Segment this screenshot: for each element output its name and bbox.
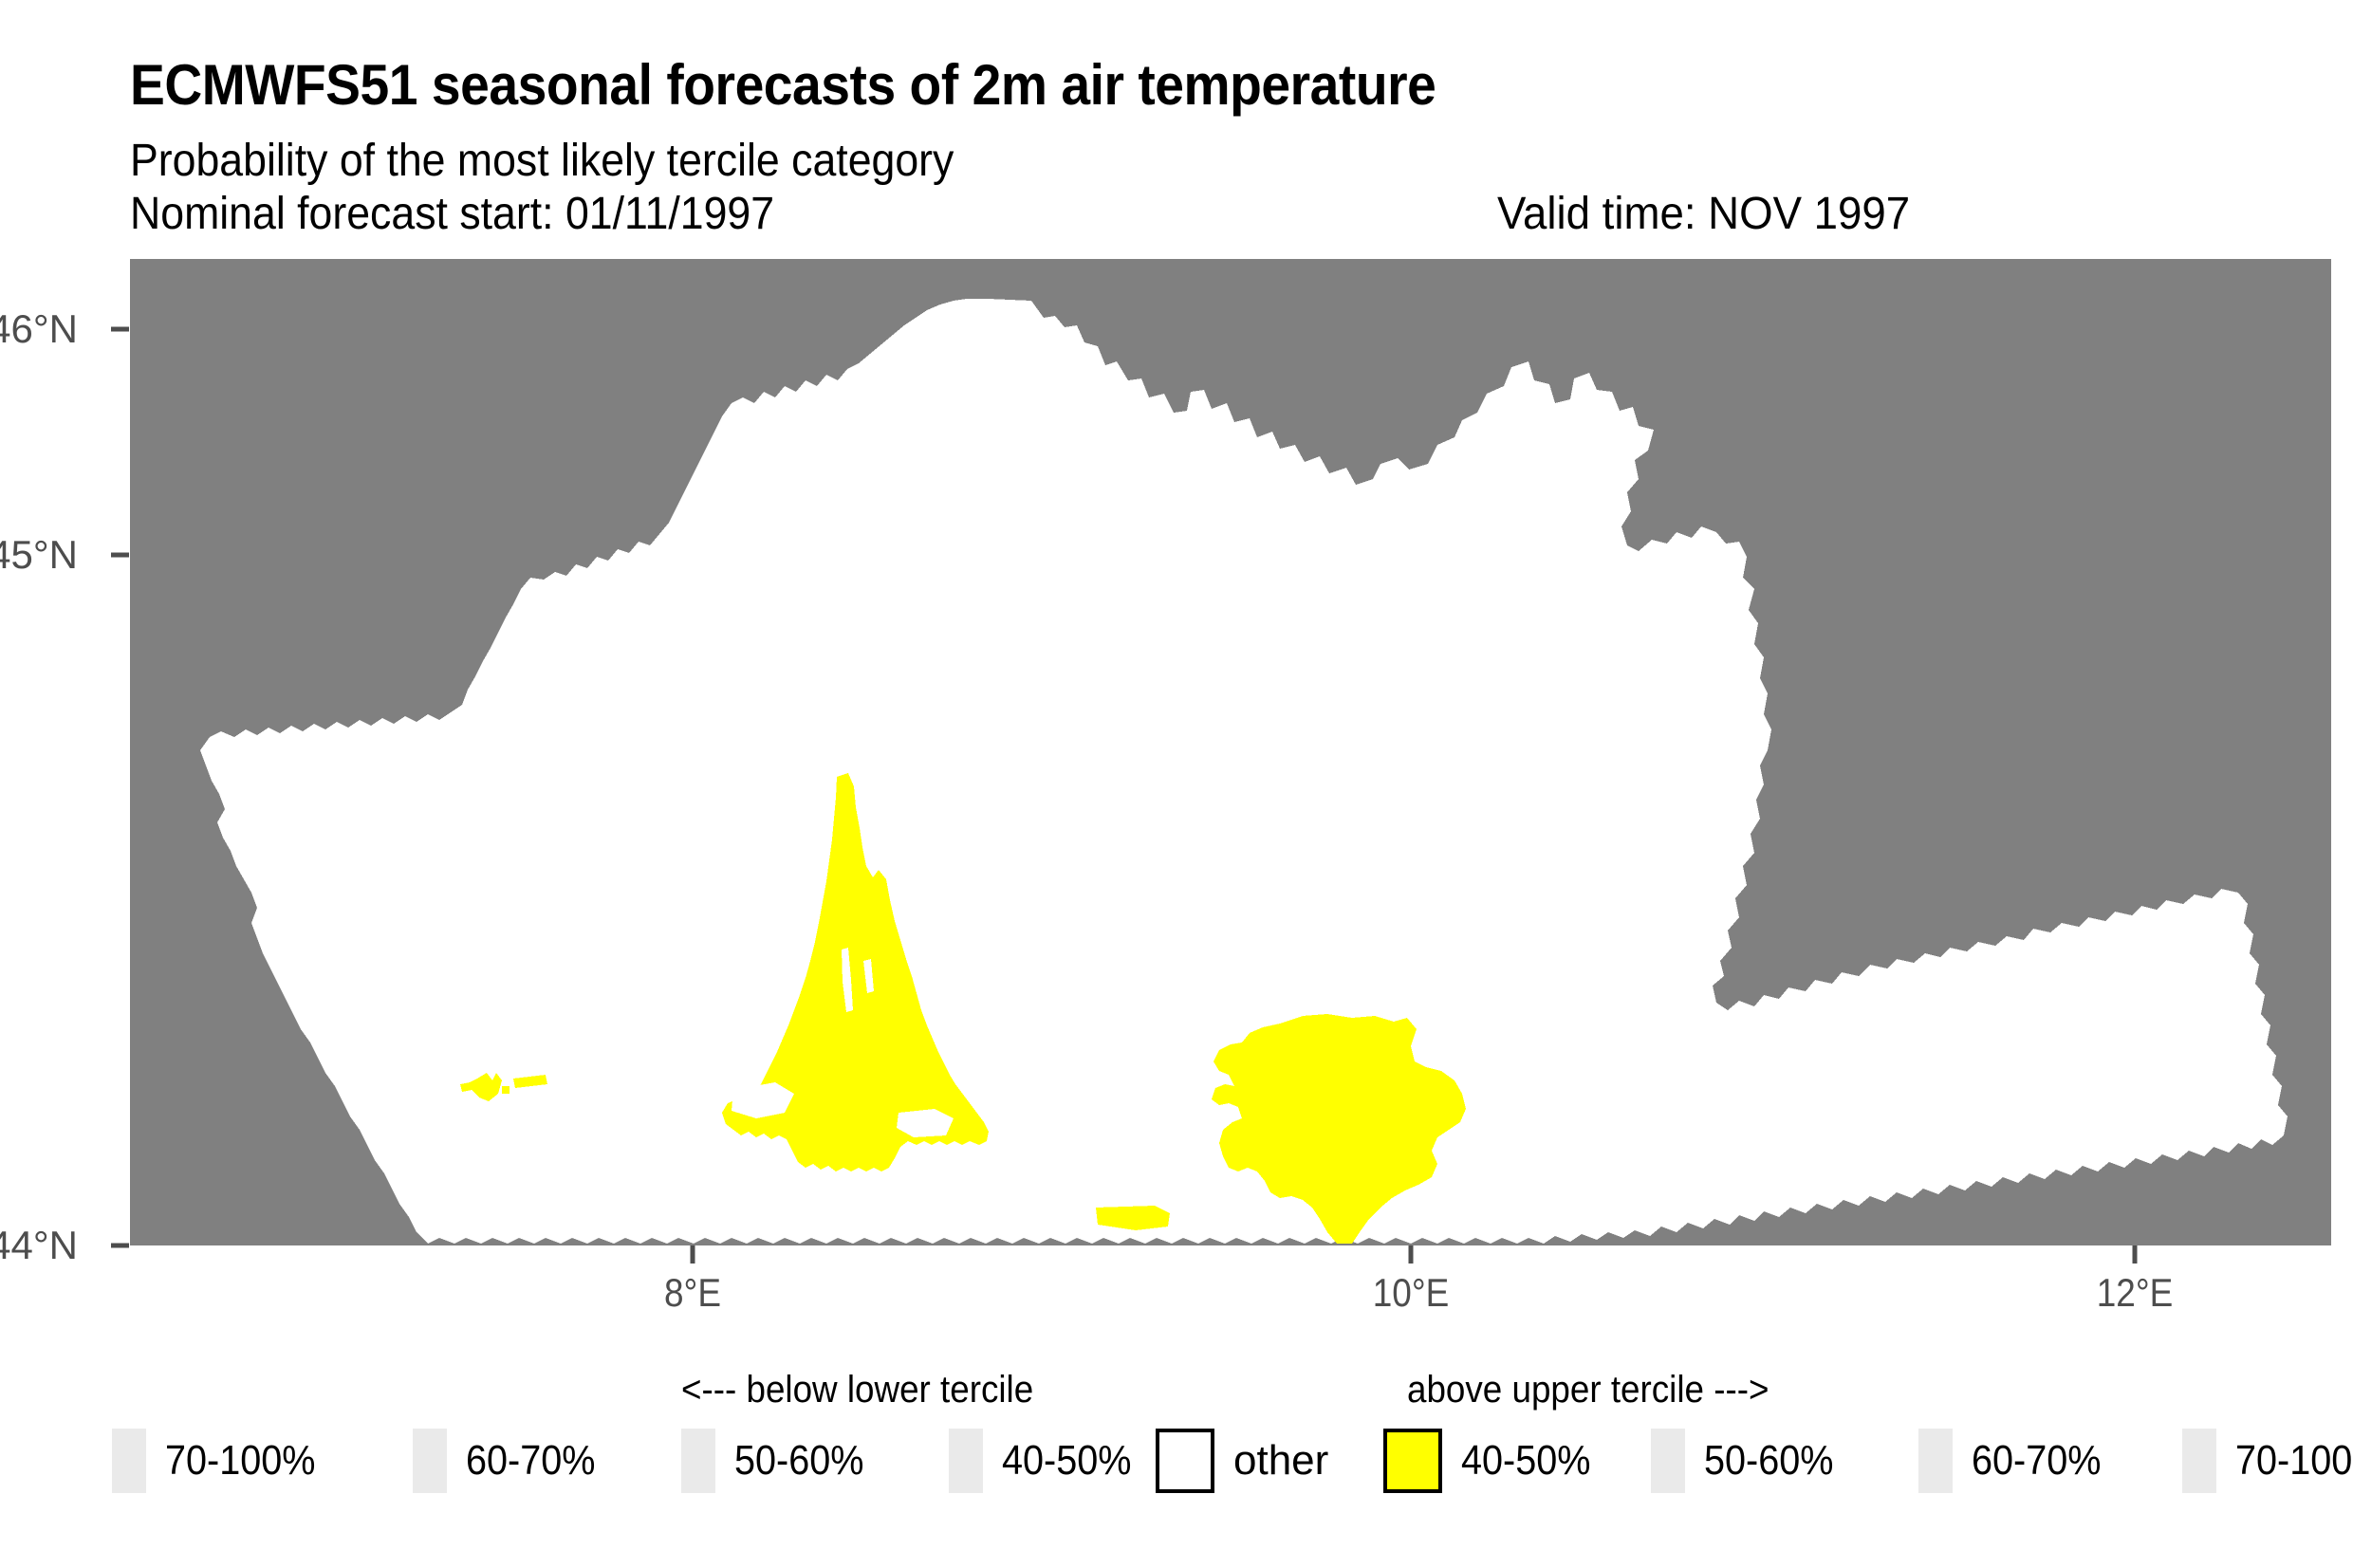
region-southwest-speck-3 [502,1086,510,1094]
legend-label-above-70-100: 70-100% [2235,1437,2353,1485]
xtick-mark-12e [2133,1245,2138,1264]
xtick-label-8e: 8°E [664,1270,721,1316]
xtick-mark-8e [691,1245,695,1264]
map-plot-area [130,259,2331,1245]
xtick-label-10e: 10°E [1373,1270,1450,1316]
legend-item-below-40-50[interactable]: 40-50% [949,1429,1146,1493]
legend-label-below-70-100: 70-100% [165,1437,316,1485]
legend-swatch-below-70-100 [112,1429,146,1493]
legend-item-below-60-70[interactable]: 60-70% [413,1429,610,1493]
legend-item-above-60-70[interactable]: 60-70% [1918,1429,2116,1493]
ytick-mark-45n [111,553,129,558]
xtick-label-12e: 12°E [2097,1270,2174,1316]
legend-label-above-50-60: 50-60% [1704,1437,1834,1485]
map-svg [130,259,2331,1245]
legend-swatch-above-50-60 [1651,1429,1685,1493]
legend-label-other: other [1233,1437,1328,1485]
legend-item-above-70-100[interactable]: 70-100% [2182,1429,2353,1493]
legend-swatch-above-70-100 [2182,1429,2216,1493]
legend-heading-above-upper-tercile: above upper tercile ---> [1407,1369,1769,1411]
legend-swatch-other [1156,1429,1214,1493]
forecast-start-label: Nominal forecast start: 01/11/1997 [130,188,774,240]
ytick-label-44n: 44°N [0,1223,78,1268]
ytick-label-46n: 46°N [0,306,78,352]
legend-swatch-below-50-60 [681,1429,715,1493]
xtick-mark-10e [1409,1245,1414,1264]
legend-item-above-40-50[interactable]: 40-50% [1383,1429,1605,1493]
valid-time-label: Valid time: NOV 1997 [1497,188,1910,240]
page-title: ECMWFS51 seasonal forecasts of 2m air te… [130,52,1436,118]
legend-swatch-above-40-50 [1383,1429,1442,1493]
legend-item-below-70-100[interactable]: 70-100% [112,1429,332,1493]
legend-item-other[interactable]: other [1156,1429,1328,1493]
ytick-mark-46n [111,327,129,332]
legend-heading-below-lower-tercile: <--- below lower tercile [681,1369,1033,1411]
legend-label-below-40-50: 40-50% [1002,1437,1132,1485]
subtitle: Probability of the most likely tercile c… [130,135,954,187]
legend-label-above-40-50: 40-50% [1461,1437,1591,1485]
ytick-label-45n: 45°N [0,532,78,578]
ytick-mark-44n [111,1244,129,1248]
legend-item-above-50-60[interactable]: 50-60% [1651,1429,1848,1493]
legend-swatch-below-40-50 [949,1429,983,1493]
legend-swatch-below-60-70 [413,1429,447,1493]
legend-label-below-60-70: 60-70% [466,1437,596,1485]
legend-label-above-60-70: 60-70% [1972,1437,2102,1485]
legend-swatch-above-60-70 [1918,1429,1953,1493]
legend-label-below-50-60: 50-60% [734,1437,864,1485]
legend-item-below-50-60[interactable]: 50-60% [681,1429,879,1493]
